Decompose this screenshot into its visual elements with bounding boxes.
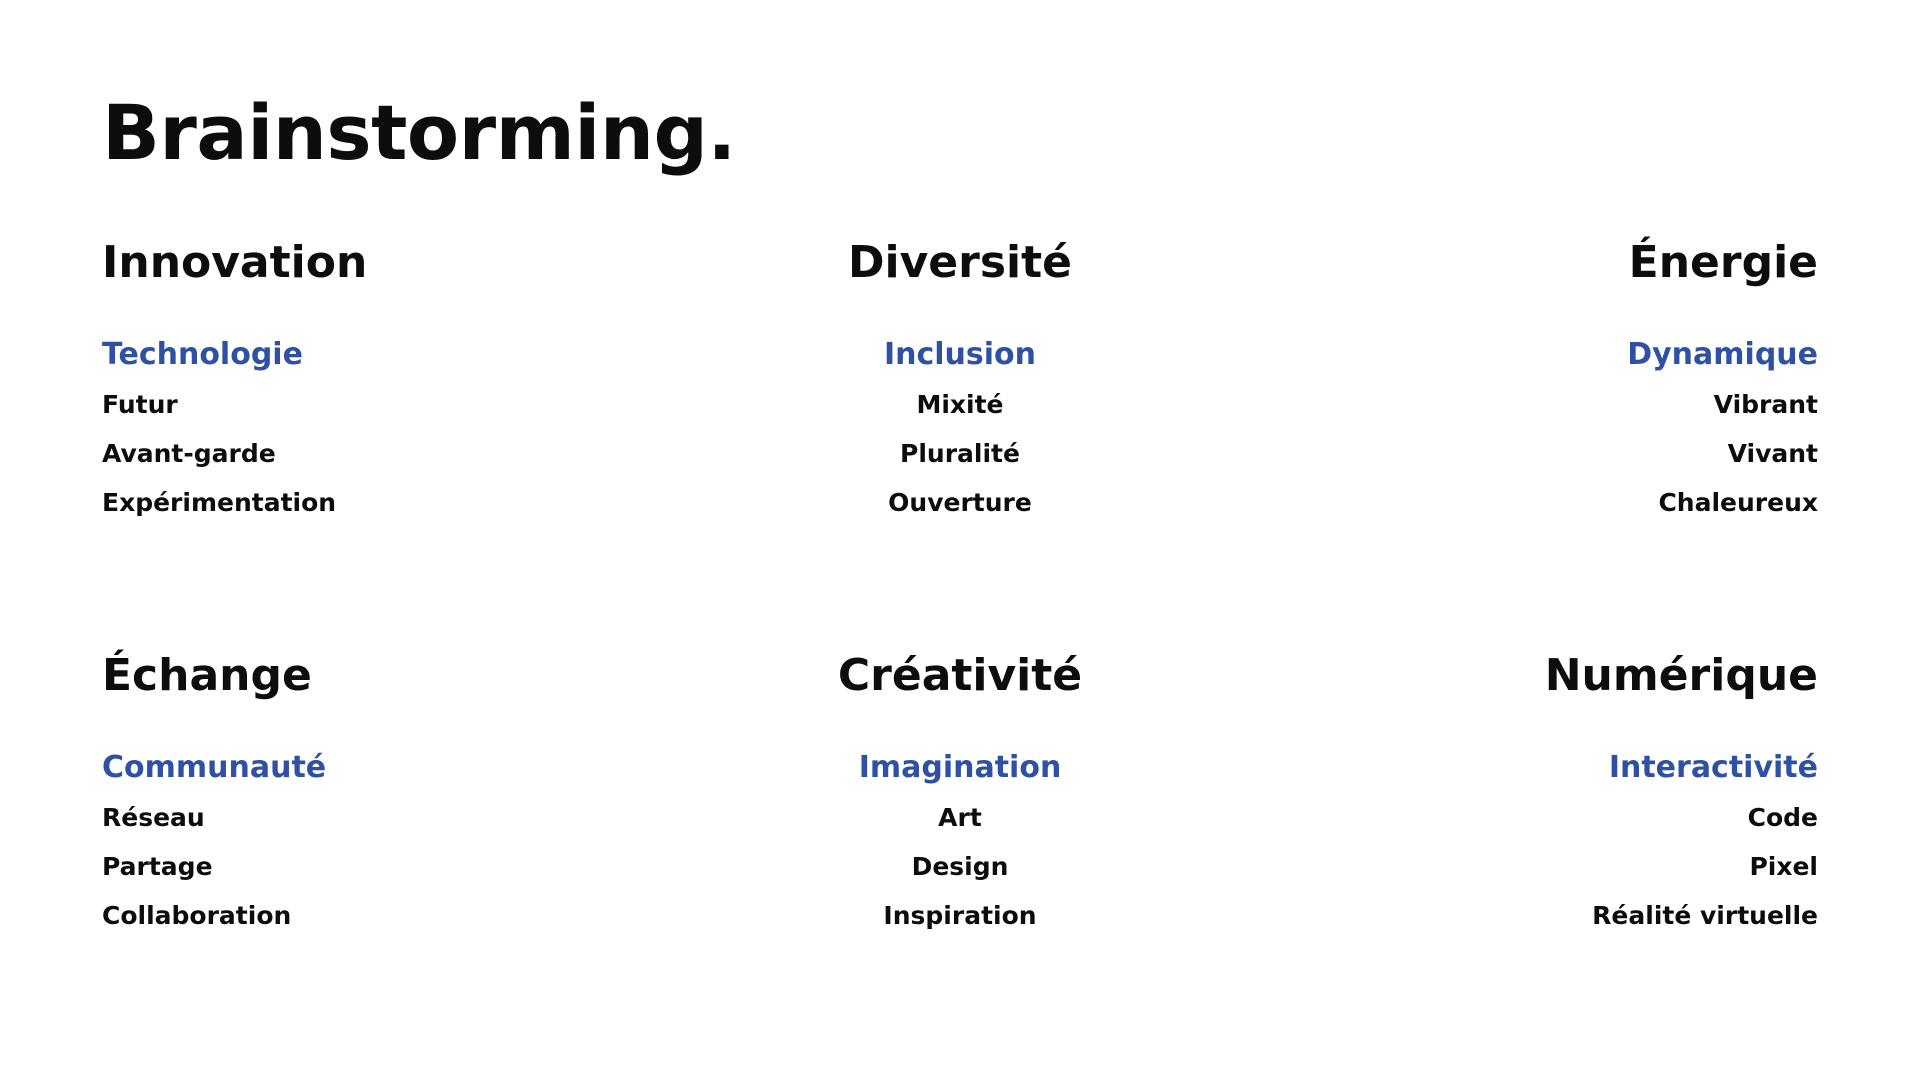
keyword-list: ImaginationArtDesignInspiration <box>859 743 1062 940</box>
keyword-item: Réseau <box>102 793 326 842</box>
theme-column: NumériqueInteractivitéCodePixelRéalité v… <box>1246 653 1818 940</box>
keyword-item: Vivant <box>1627 429 1818 478</box>
keyword-primary: Imagination <box>859 743 1062 793</box>
keyword-item: Mixité <box>884 380 1036 429</box>
keyword-primary: Dynamique <box>1627 330 1818 380</box>
theme-column-header: Diversité <box>848 240 1072 286</box>
keyword-item: Design <box>859 842 1062 891</box>
theme-column-header: Innovation <box>102 240 367 286</box>
theme-column-header: Créativité <box>838 653 1082 699</box>
theme-grid: InnovationTechnologieFuturAvant-gardeExp… <box>102 240 1818 940</box>
theme-column-header: Numérique <box>1545 653 1818 699</box>
keyword-item: Pluralité <box>884 429 1036 478</box>
keyword-list: CommunautéRéseauPartageCollaboration <box>102 743 326 940</box>
keyword-item: Partage <box>102 842 326 891</box>
brainstorming-slide: Brainstorming. InnovationTechnologieFutu… <box>0 0 1920 1080</box>
keyword-item: Futur <box>102 380 336 429</box>
keyword-item: Collaboration <box>102 891 326 940</box>
theme-column-header: Énergie <box>1629 240 1818 286</box>
keyword-primary: Interactivité <box>1592 743 1818 793</box>
theme-column: ÉchangeCommunautéRéseauPartageCollaborat… <box>102 653 674 940</box>
keyword-item: Chaleureux <box>1627 478 1818 527</box>
keyword-item: Art <box>859 793 1062 842</box>
keyword-item: Vibrant <box>1627 380 1818 429</box>
keyword-list: InclusionMixitéPluralitéOuverture <box>884 330 1036 527</box>
keyword-item: Ouverture <box>884 478 1036 527</box>
keyword-item: Avant-garde <box>102 429 336 478</box>
keyword-primary: Communauté <box>102 743 326 793</box>
keyword-list: TechnologieFuturAvant-gardeExpérimentati… <box>102 330 336 527</box>
theme-column: CréativitéImaginationArtDesignInspiratio… <box>674 653 1246 940</box>
keyword-list: DynamiqueVibrantVivantChaleureux <box>1627 330 1818 527</box>
theme-column: ÉnergieDynamiqueVibrantVivantChaleureux <box>1246 240 1818 527</box>
page-title: Brainstorming. <box>102 95 736 171</box>
keyword-list: InteractivitéCodePixelRéalité virtuelle <box>1592 743 1818 940</box>
keyword-item: Code <box>1592 793 1818 842</box>
theme-column: InnovationTechnologieFuturAvant-gardeExp… <box>102 240 674 527</box>
keyword-primary: Inclusion <box>884 330 1036 380</box>
theme-column-header: Échange <box>102 653 312 699</box>
theme-column: DiversitéInclusionMixitéPluralitéOuvertu… <box>674 240 1246 527</box>
keyword-item: Réalité virtuelle <box>1592 891 1818 940</box>
keyword-item: Expérimentation <box>102 478 336 527</box>
keyword-primary: Technologie <box>102 330 336 380</box>
keyword-item: Inspiration <box>859 891 1062 940</box>
keyword-item: Pixel <box>1592 842 1818 891</box>
